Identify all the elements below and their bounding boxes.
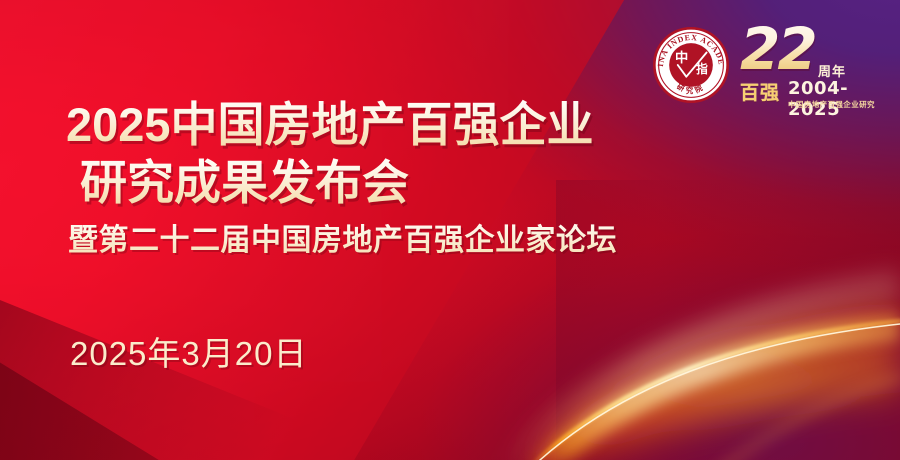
svg-text:中: 中 (675, 49, 688, 65)
china-index-academy-seal-icon: CHINA INDEX ACADEMY 研究院 中 指 (652, 26, 730, 104)
anniversary-caption: 中国房地产百强企业研究 (788, 99, 875, 110)
top100-badge: 百强 (740, 78, 780, 105)
page-title-line-2: 研究成果发布会 (80, 154, 706, 212)
event-date: 2025年3月20日 (70, 332, 307, 376)
poster-canvas: CHINA INDEX ACADEMY 研究院 中 指 22 周年 百强 200… (0, 0, 900, 460)
title-block: 2025中国房地产百强企业 研究成果发布会 暨第二十二届中国房地产百强企业家论坛 (66, 96, 706, 262)
anniversary-number: 22 (740, 20, 815, 78)
anniversary-mark: 22 周年 百强 2004-2025 中国房地产百强企业研究 (740, 22, 892, 114)
page-subtitle: 暨第二十二届中国房地产百强企业家论坛 (68, 220, 706, 262)
page-title-line-1: 2025中国房地产百强企业 (66, 96, 706, 154)
